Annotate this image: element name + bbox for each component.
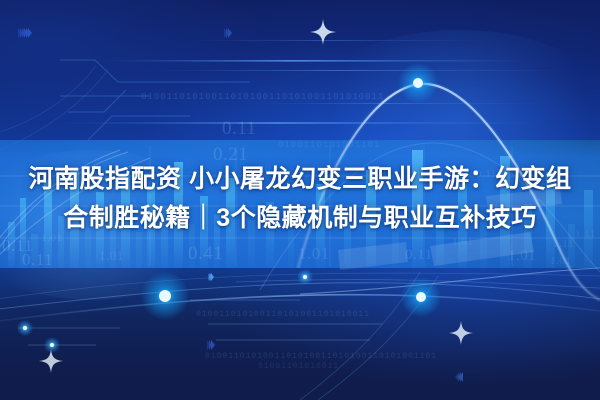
decorative-binary-row: 01001101010011010100110101001101010011	[141, 92, 384, 102]
decorative-binary-row: 010011010100110101001101010011	[196, 310, 370, 319]
headline-line-2: 合制胜秘籍｜3个隐藏机制与职业互补技巧	[0, 199, 600, 238]
decorative-binary-row: 01001101010011	[258, 362, 339, 371]
promo-banner: 0.110.210.110.111.011.010.411.010.111.01…	[0, 0, 600, 400]
decorative-binary-row: 0100110101001101	[278, 140, 380, 150]
decorative-binary-row: 0100110101001101010011010100110101001101	[205, 352, 437, 361]
headline-line-1: 河南股指配资 小小屠龙幻变三职业手游：幻变组	[0, 160, 600, 199]
banner-headline: 河南股指配资 小小屠龙幻变三职业手游：幻变组 合制胜秘籍｜3个隐藏机制与职业互补…	[0, 160, 600, 238]
